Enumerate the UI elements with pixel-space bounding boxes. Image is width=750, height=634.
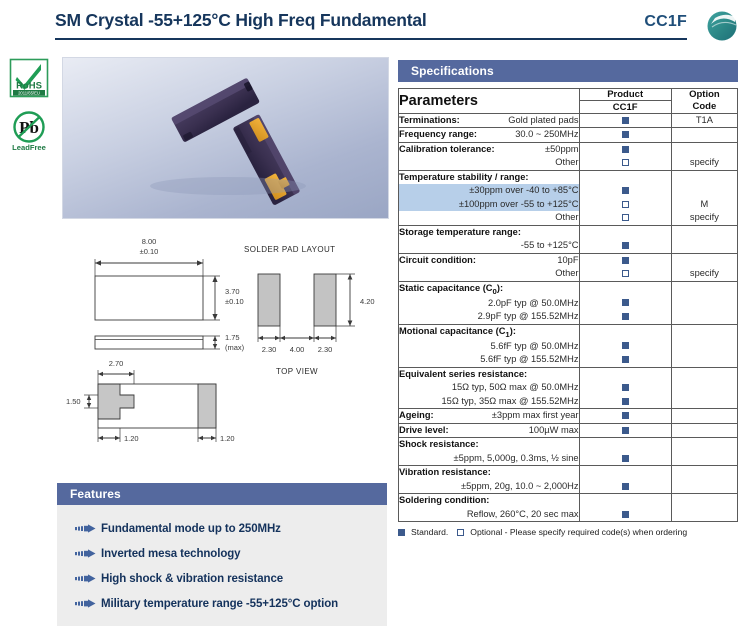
column-header-product: Product — [579, 89, 671, 101]
parameter-line: ±100ppm over -55 to +125°C — [399, 198, 579, 211]
product-mark-cell — [579, 409, 671, 424]
dim-pad-width: 2.70 — [109, 359, 124, 368]
column-header-parameters: Parameters — [399, 89, 580, 114]
mark-slot — [580, 438, 671, 452]
product-mark-cell — [579, 142, 671, 170]
option-slot: M — [672, 198, 737, 212]
parameter-value: 2.0pF typ @ 50.0MHz — [488, 297, 579, 310]
table-row: Shock resistance:±5ppm, 5,000g, 0.3ms, ½… — [399, 438, 738, 466]
parameter-cell: Frequency range:30.0 ~ 250MHz — [399, 128, 580, 143]
option-code-cell — [671, 438, 737, 466]
parameter-line: -55 to +125°C — [399, 239, 579, 252]
dim-thickness: 1.75 — [225, 333, 240, 342]
dim-width-tol: ±0.10 — [140, 247, 159, 256]
dim-solder-pad-a: 2.30 — [262, 345, 277, 354]
mark-slot — [580, 239, 671, 253]
parameter-line: Motional capacitance (C1): — [399, 325, 579, 340]
parameter-line: 15Ω typ, 35Ω max @ 155.52MHz — [399, 395, 579, 408]
option-slot — [672, 254, 737, 268]
dim-solder-gap: 4.00 — [290, 345, 305, 354]
list-item: Fundamental mode up to 250MHz — [57, 516, 387, 541]
feature-label: Military temperature range -55+125°C opt… — [101, 598, 338, 610]
feature-label: High shock & vibration resistance — [101, 573, 283, 585]
parameter-line: Shock resistance: — [399, 438, 579, 451]
table-row: Static capacitance (C0):2.0pF typ @ 50.0… — [399, 281, 738, 324]
product-mark-cell — [579, 128, 671, 143]
table-row: Circuit condition:10pFOtherspecify — [399, 253, 738, 281]
parameter-cell: Equivalent series resistance:15Ω typ, 50… — [399, 367, 580, 409]
standard-marker-icon — [622, 131, 629, 138]
standard-marker-icon — [622, 412, 629, 419]
parameter-line: 2.0pF typ @ 50.0MHz — [399, 297, 579, 310]
lead-free-icon: Pb LeadFree — [8, 109, 50, 155]
mark-slot — [580, 211, 671, 225]
optional-marker-icon — [622, 159, 629, 166]
leadfree-label: LeadFree — [12, 143, 46, 152]
parameter-value: 100µW max — [529, 424, 579, 437]
parameter-value: 10pF — [557, 254, 578, 267]
mark-slot — [580, 143, 671, 157]
compliance-badges: RoHS 2011/65/EU Pb LeadFree — [8, 58, 54, 160]
parameter-cell: Calibration tolerance:±50ppmOther — [399, 142, 580, 170]
parameter-value: 2.9pF typ @ 155.52MHz — [478, 310, 579, 323]
parameter-cell: Circuit condition:10pFOther — [399, 253, 580, 281]
table-row: Temperature stability / range:±30ppm ove… — [399, 170, 738, 225]
parameter-line: Ageing:±3ppm max first year — [399, 409, 579, 422]
option-slot — [672, 171, 737, 185]
mark-slot — [580, 339, 671, 353]
parameter-line: Calibration tolerance:±50ppm — [399, 143, 579, 156]
option-slot — [672, 339, 737, 353]
product-mark-cell — [579, 113, 671, 128]
option-code-cell: specify — [671, 253, 737, 281]
specifications-heading: Specifications — [398, 60, 738, 82]
parameter-value: Other — [555, 267, 578, 280]
parameter-line: ±5ppm, 20g, 10.0 ~ 2,000Hz — [399, 480, 579, 493]
table-row: Calibration tolerance:±50ppmOtherspecify — [399, 142, 738, 170]
parameter-value: 15Ω typ, 50Ω max @ 50.0MHz — [452, 381, 579, 394]
table-row: Storage temperature range:-55 to +125°C — [399, 225, 738, 253]
product-photo — [62, 57, 389, 219]
parameter-cell: Soldering condition:Reflow, 260°C, 20 se… — [399, 494, 580, 522]
parameter-label: Motional capacitance (C1): — [399, 325, 516, 340]
mark-slot — [580, 184, 671, 198]
parameter-line: Temperature stability / range: — [399, 171, 579, 184]
product-mark-cell — [579, 281, 671, 324]
optional-marker-icon — [622, 214, 629, 221]
standard-marker-icon — [622, 299, 629, 306]
option-slot: T1A — [672, 114, 737, 128]
parameter-value: Other — [555, 211, 578, 224]
product-mark-cell — [579, 423, 671, 438]
parameter-line: ±30ppm over -40 to +85°C — [399, 184, 579, 197]
parameter-cell: Storage temperature range:-55 to +125°C — [399, 225, 580, 253]
mark-slot — [580, 267, 671, 281]
product-mark-cell — [579, 253, 671, 281]
table-row: Terminations:Gold plated padsT1A — [399, 113, 738, 128]
dim-solder-pad-b: 2.30 — [318, 345, 333, 354]
standard-marker-icon — [622, 242, 629, 249]
parameter-line: Drive level:100µW max — [399, 424, 579, 437]
parameter-label: Frequency range: — [399, 128, 477, 141]
parameter-line: ±5ppm, 5,000g, 0.3ms, ½ sine — [399, 452, 579, 465]
parameter-value: -55 to +125°C — [521, 239, 579, 252]
parameter-label: Equivalent series resistance: — [399, 368, 527, 381]
table-header-row: Parameters Product Option Code — [399, 89, 738, 101]
table-row: Soldering condition:Reflow, 260°C, 20 se… — [399, 494, 738, 522]
option-code-cell: Mspecify — [671, 170, 737, 225]
list-item: Military temperature range -55+125°C opt… — [57, 591, 387, 616]
option-slot — [672, 233, 737, 247]
standard-marker-icon — [622, 427, 629, 434]
mark-slot — [580, 480, 671, 494]
parameter-value: 15Ω typ, 35Ω max @ 155.52MHz — [442, 395, 579, 408]
option-slot — [672, 501, 737, 515]
parameter-label: Calibration tolerance: — [399, 143, 495, 156]
product-mark-cell — [579, 225, 671, 253]
mark-slot — [580, 226, 671, 240]
dim-height: 3.70 — [225, 287, 240, 296]
feature-label: Fundamental mode up to 250MHz — [101, 523, 281, 535]
mark-slot — [580, 452, 671, 466]
standard-marker-icon — [622, 384, 629, 391]
optional-marker-icon — [457, 529, 464, 536]
product-code: CC1F — [644, 13, 687, 31]
parameter-cell: Temperature stability / range:±30ppm ove… — [399, 170, 580, 225]
mark-slot — [580, 128, 671, 142]
table-row: Drive level:100µW max — [399, 423, 738, 438]
dim-width: 8.00 — [142, 237, 157, 246]
rohs-directive: 2011/65/EU — [18, 90, 40, 95]
parameter-line: Other — [399, 211, 579, 224]
option-code-cell: T1A — [671, 113, 737, 128]
parameter-label: Storage temperature range: — [399, 226, 521, 239]
standard-marker-icon — [622, 257, 629, 264]
feature-label: Inverted mesa technology — [101, 548, 240, 560]
standard-marker-icon — [622, 356, 629, 363]
product-mark-cell — [579, 438, 671, 466]
arrow-bullet-icon — [75, 520, 101, 538]
parameter-label: Terminations: — [399, 114, 460, 127]
column-header-product-variant: CC1F — [579, 101, 671, 113]
mark-slot — [580, 466, 671, 480]
parameter-cell: Terminations:Gold plated pads — [399, 113, 580, 128]
parameter-value: ±100ppm over -55 to +125°C — [459, 198, 579, 211]
option-slot — [672, 473, 737, 487]
page-header: SM Crystal -55+125°C High Freq Fundament… — [55, 8, 745, 42]
parameter-label: Circuit condition: — [399, 254, 476, 267]
option-slot — [672, 381, 737, 395]
parameter-line: Vibration resistance: — [399, 466, 579, 479]
option-slot: specify — [672, 267, 737, 281]
mark-slot — [580, 424, 671, 438]
table-row: Frequency range:30.0 ~ 250MHz — [399, 128, 738, 143]
mark-slot — [580, 156, 671, 170]
product-mark-cell — [579, 494, 671, 522]
option-code-cell — [671, 367, 737, 409]
table-row: Vibration resistance:±5ppm, 20g, 10.0 ~ … — [399, 466, 738, 494]
mark-slot — [580, 353, 671, 367]
arrow-bullet-icon — [75, 545, 101, 563]
table-row: Motional capacitance (C1):5.6fF typ @ 50… — [399, 324, 738, 367]
specifications-table: Parameters Product Option Code CC1F Term… — [398, 88, 738, 522]
parameter-cell: Vibration resistance:±5ppm, 20g, 10.0 ~ … — [399, 466, 580, 494]
option-code-cell — [671, 466, 737, 494]
dim-left-gap: 1.20 — [124, 434, 139, 443]
option-code-line1: Option — [672, 89, 737, 101]
specifications-table-body: Terminations:Gold plated padsT1AFrequenc… — [399, 113, 738, 522]
option-slot — [672, 184, 737, 198]
option-code-cell — [671, 225, 737, 253]
legend-standard-label: Standard. — [411, 527, 448, 537]
parameter-line: 5.6fF typ @ 155.52MHz — [399, 353, 579, 366]
parameter-line: Static capacitance (C0): — [399, 282, 579, 297]
parameter-value: ±50ppm — [545, 143, 579, 156]
product-mark-cell — [579, 466, 671, 494]
standard-marker-icon — [622, 455, 629, 462]
option-code-cell: specify — [671, 142, 737, 170]
parameter-label: Ageing: — [399, 409, 434, 422]
option-code-cell — [671, 423, 737, 438]
product-mark-cell — [579, 170, 671, 225]
mark-slot — [580, 494, 671, 508]
parameter-label: Temperature stability / range: — [399, 171, 529, 184]
standard-marker-icon — [622, 187, 629, 194]
parameter-line: 2.9pF typ @ 155.52MHz — [399, 310, 579, 323]
parameter-cell: Ageing:±3ppm max first year — [399, 409, 580, 424]
option-slot — [672, 143, 737, 157]
mark-slot — [580, 508, 671, 522]
mark-slot — [580, 198, 671, 212]
rohs-check-icon: RoHS 2011/65/EU — [8, 58, 50, 98]
parameter-line: Other — [399, 267, 579, 280]
option-code-cell — [671, 281, 737, 324]
header-divider — [55, 38, 687, 40]
list-item: High shock & vibration resistance — [57, 566, 387, 591]
parameter-label: Soldering condition: — [399, 494, 489, 507]
parameter-cell: Drive level:100µW max — [399, 423, 580, 438]
table-row: Equivalent series resistance:15Ω typ, 50… — [399, 367, 738, 409]
dim-pad-height: 1.50 — [66, 397, 81, 406]
option-slot — [672, 424, 737, 438]
features-section: Features Fundamental mode up to 250MHz — [57, 483, 387, 626]
parameter-label: Shock resistance: — [399, 438, 479, 451]
parameter-line: 15Ω typ, 50Ω max @ 50.0MHz — [399, 381, 579, 394]
optional-marker-icon — [622, 201, 629, 208]
mark-slot — [580, 381, 671, 395]
parameter-cell: Static capacitance (C0):2.0pF typ @ 50.0… — [399, 281, 580, 324]
features-heading: Features — [57, 483, 387, 505]
parameter-line: 5.6fF typ @ 50.0MHz — [399, 340, 579, 353]
mark-slot — [580, 310, 671, 324]
option-slot: specify — [672, 156, 737, 170]
option-slot — [672, 296, 737, 310]
option-code-line2: Code — [672, 101, 737, 113]
mark-slot — [580, 368, 671, 382]
standard-marker-icon — [622, 313, 629, 320]
table-row: Ageing:±3ppm max first year — [399, 409, 738, 424]
parameter-value: ±5ppm, 5,000g, 0.3ms, ½ sine — [454, 452, 579, 465]
legend-optional-label: Optional - Please specify required code(… — [470, 527, 687, 537]
parameter-value: 5.6fF typ @ 155.52MHz — [480, 353, 578, 366]
parameter-line: Frequency range:30.0 ~ 250MHz — [399, 128, 579, 141]
globe-logo-icon — [705, 10, 739, 42]
mark-slot — [580, 283, 671, 297]
mark-slot — [580, 326, 671, 340]
dim-solder-pad-height: 4.20 — [360, 297, 375, 306]
option-slot — [672, 445, 737, 459]
standard-marker-icon — [622, 483, 629, 490]
mark-slot — [580, 409, 671, 423]
product-mark-cell — [579, 324, 671, 367]
standard-marker-icon — [398, 529, 405, 536]
solder-pad-view-label: TOP VIEW — [276, 367, 318, 376]
option-code-cell — [671, 128, 737, 143]
dim-right-gap: 1.20 — [220, 434, 235, 443]
option-code-cell — [671, 324, 737, 367]
features-list: Fundamental mode up to 250MHz Inverted m… — [57, 505, 387, 626]
column-header-option-code: Option Code — [671, 89, 737, 114]
option-slot: specify — [672, 211, 737, 225]
parameter-line: Reflow, 260°C, 20 sec max — [399, 508, 579, 521]
dim-thickness-note: (max) — [225, 343, 245, 352]
table-legend: Standard. Optional - Please specify requ… — [398, 527, 738, 537]
mark-slot — [580, 254, 671, 268]
mark-slot — [580, 296, 671, 310]
mark-slot — [580, 171, 671, 185]
parameter-value: 5.6fF typ @ 50.0MHz — [491, 340, 579, 353]
dim-height-tol: ±0.10 — [225, 297, 244, 306]
product-mark-cell — [579, 367, 671, 409]
option-slot — [672, 128, 737, 142]
parameter-line: Storage temperature range: — [399, 226, 579, 239]
standard-marker-icon — [622, 342, 629, 349]
arrow-bullet-icon — [75, 570, 101, 588]
option-code-cell — [671, 494, 737, 522]
parameter-line: Soldering condition: — [399, 494, 579, 507]
parameter-line: Terminations:Gold plated pads — [399, 114, 579, 127]
parameter-value: Gold plated pads — [508, 114, 578, 127]
parameter-value: ±3ppm max first year — [492, 409, 579, 422]
parameter-label: Static capacitance (C0): — [399, 282, 503, 297]
option-slot — [672, 409, 737, 423]
list-item: Inverted mesa technology — [57, 541, 387, 566]
parameter-line: Equivalent series resistance: — [399, 368, 579, 381]
mark-slot — [580, 395, 671, 409]
option-code-cell — [671, 409, 737, 424]
mark-slot — [580, 114, 671, 128]
standard-marker-icon — [622, 398, 629, 405]
parameter-value: 30.0 ~ 250MHz — [515, 128, 578, 141]
parameter-label: Drive level: — [399, 424, 449, 437]
specifications-section: Specifications Parameters Product Option… — [398, 60, 738, 537]
parameter-line: Other — [399, 156, 579, 169]
parameter-cell: Motional capacitance (C1):5.6fF typ @ 50… — [399, 324, 580, 367]
standard-marker-icon — [622, 511, 629, 518]
mechanical-drawings: 8.00 ±0.10 3.70 ±0.10 1.75 (max) — [62, 232, 387, 470]
parameter-value: Reflow, 260°C, 20 sec max — [467, 508, 579, 521]
standard-marker-icon — [622, 146, 629, 153]
parameter-value: ±30ppm over -40 to +85°C — [469, 184, 578, 197]
optional-marker-icon — [622, 270, 629, 277]
page-title: SM Crystal -55+125°C High Freq Fundament… — [55, 10, 427, 31]
solder-pad-title: SOLDER PAD LAYOUT — [244, 245, 335, 254]
parameter-value: ±5ppm, 20g, 10.0 ~ 2,000Hz — [461, 480, 579, 493]
parameter-line: Circuit condition:10pF — [399, 254, 579, 267]
standard-marker-icon — [622, 117, 629, 124]
arrow-bullet-icon — [75, 595, 101, 613]
parameter-cell: Shock resistance:±5ppm, 5,000g, 0.3ms, ½… — [399, 438, 580, 466]
parameter-value: Other — [555, 156, 578, 169]
parameter-label: Vibration resistance: — [399, 466, 491, 479]
